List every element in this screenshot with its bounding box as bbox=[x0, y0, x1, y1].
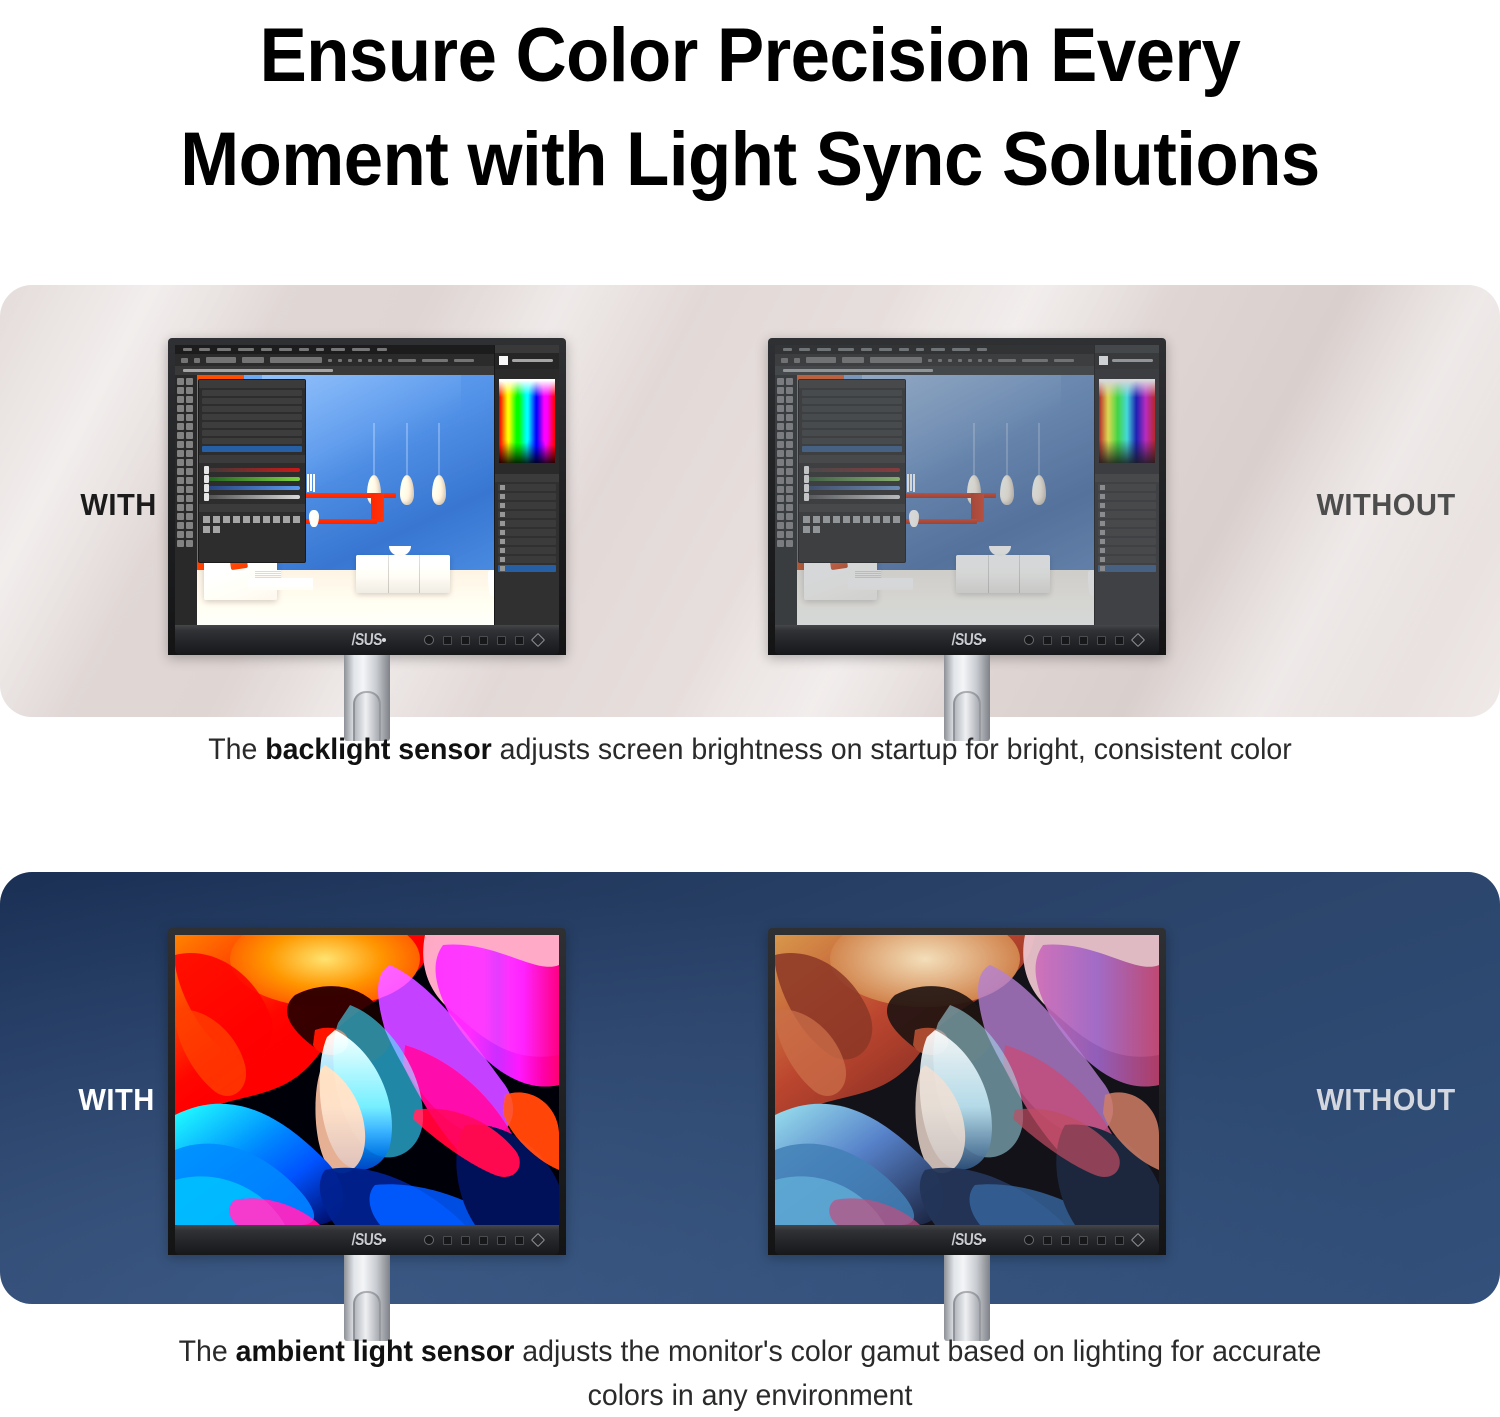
pendant-lamp bbox=[400, 475, 414, 505]
caption-prefix: The bbox=[208, 733, 265, 766]
abstract-silk-wallpaper-washed bbox=[775, 935, 1159, 1225]
caption-prefix: The bbox=[179, 1335, 236, 1368]
pendant-lamp bbox=[1000, 475, 1014, 505]
color-gradient-picker[interactable] bbox=[499, 379, 556, 463]
label-with-ambient: WITH bbox=[78, 1082, 154, 1118]
caption-backlight-sensor: The backlight sensor adjusts screen brig… bbox=[38, 728, 1463, 772]
asus-logo: /SUS bbox=[951, 1230, 982, 1250]
monitor-screen-without-backlight bbox=[775, 345, 1159, 625]
photoshop-toolbar[interactable] bbox=[175, 375, 197, 625]
osd-button-2[interactable] bbox=[461, 1236, 470, 1245]
abstract-silk-wallpaper-vivid bbox=[175, 935, 559, 1225]
label-without-backlight: WITHOUT bbox=[1316, 487, 1455, 523]
silk-artwork bbox=[175, 935, 559, 1225]
sideboard-cabinet bbox=[956, 555, 1050, 593]
monitor-without-backlight: /SUS bbox=[768, 338, 1166, 741]
power-button-icon[interactable] bbox=[1131, 1233, 1145, 1247]
caption-bold: backlight sensor bbox=[265, 733, 491, 766]
osd-button-5[interactable] bbox=[515, 636, 524, 645]
osd-button-3[interactable] bbox=[1079, 636, 1088, 645]
osd-button-4[interactable] bbox=[497, 636, 506, 645]
product-feature-page: Ensure Color Precision Every Moment with… bbox=[0, 0, 1500, 1417]
monitor-with-backlight: /SUS bbox=[168, 338, 566, 741]
power-button-icon[interactable] bbox=[1131, 633, 1145, 647]
monitor-stand bbox=[344, 1255, 390, 1341]
osd-button-3[interactable] bbox=[479, 1236, 488, 1245]
osd-button-2[interactable] bbox=[1061, 1236, 1070, 1245]
osd-button-joystick[interactable] bbox=[1024, 1235, 1034, 1245]
osd-button-1[interactable] bbox=[443, 1236, 452, 1245]
photoshop-layers-list[interactable] bbox=[1095, 474, 1159, 625]
osd-button-2[interactable] bbox=[1061, 636, 1070, 645]
osd-button-joystick[interactable] bbox=[1024, 635, 1034, 645]
asus-logo: /SUS bbox=[351, 1230, 382, 1250]
osd-button-1[interactable] bbox=[443, 636, 452, 645]
osd-button-joystick[interactable] bbox=[424, 1235, 434, 1245]
power-button-icon[interactable] bbox=[531, 633, 545, 647]
label-with-backlight: WITH bbox=[80, 487, 156, 523]
monitor-screen-with-backlight bbox=[175, 345, 559, 625]
monitor-bezel: /SUS bbox=[768, 928, 1166, 1255]
headline-line-2: Moment with Light Sync Solutions bbox=[53, 108, 1448, 212]
osd-button-1[interactable] bbox=[1043, 636, 1052, 645]
osd-button-1[interactable] bbox=[1043, 1236, 1052, 1245]
page-title: Ensure Color Precision Every Moment with… bbox=[0, 0, 1500, 212]
osd-button-row[interactable] bbox=[424, 635, 543, 645]
osd-button-3[interactable] bbox=[479, 636, 488, 645]
osd-button-5[interactable] bbox=[515, 1236, 524, 1245]
headline-line-1: Ensure Color Precision Every bbox=[53, 4, 1448, 108]
monitor-without-ambient: /SUS bbox=[768, 928, 1166, 1341]
silk-artwork bbox=[775, 935, 1159, 1225]
monitor-chin: /SUS bbox=[775, 625, 1159, 655]
power-led bbox=[382, 1238, 386, 1242]
osd-button-5[interactable] bbox=[1115, 636, 1124, 645]
caption-suffix: adjusts screen brightness on startup for… bbox=[492, 733, 1292, 766]
color-gradient-picker[interactable] bbox=[1099, 379, 1156, 463]
monitor-screen-without-ambient bbox=[775, 935, 1159, 1225]
sideboard-cabinet bbox=[356, 555, 450, 593]
monitor-stand bbox=[944, 1255, 990, 1341]
osd-button-3[interactable] bbox=[1079, 1236, 1088, 1245]
osd-button-row[interactable] bbox=[424, 1235, 543, 1245]
monitor-chin: /SUS bbox=[775, 1225, 1159, 1255]
monitor-with-ambient: /SUS bbox=[168, 928, 566, 1341]
osd-button-4[interactable] bbox=[1097, 1236, 1106, 1245]
coffee-table bbox=[248, 578, 313, 591]
photoshop-layers-panel-left[interactable] bbox=[798, 379, 906, 564]
osd-button-4[interactable] bbox=[1097, 636, 1106, 645]
power-led bbox=[982, 1238, 986, 1242]
coffee-table bbox=[848, 578, 913, 591]
power-led bbox=[982, 638, 986, 642]
monitor-chin: /SUS bbox=[175, 1225, 559, 1255]
monitor-bezel: /SUS bbox=[168, 338, 566, 655]
photoshop-layers-list[interactable] bbox=[495, 474, 559, 625]
osd-button-joystick[interactable] bbox=[424, 635, 434, 645]
photoshop-color-panel[interactable] bbox=[494, 345, 559, 625]
caption-line-2: colors in any environment bbox=[588, 1379, 913, 1412]
photoshop-ui-dim bbox=[775, 345, 1159, 625]
power-button-icon[interactable] bbox=[531, 1233, 545, 1247]
osd-button-row[interactable] bbox=[1024, 635, 1143, 645]
monitor-bezel: /SUS bbox=[768, 338, 1166, 655]
photoshop-layers-panel-left[interactable] bbox=[198, 379, 306, 564]
label-without-ambient: WITHOUT bbox=[1316, 1082, 1455, 1118]
osd-button-row[interactable] bbox=[1024, 1235, 1143, 1245]
photoshop-toolbar[interactable] bbox=[775, 375, 797, 625]
caption-suffix: adjusts the monitor's color gamut based … bbox=[514, 1335, 1321, 1368]
monitor-bezel: /SUS bbox=[168, 928, 566, 1255]
monitor-chin: /SUS bbox=[175, 625, 559, 655]
photoshop-color-panel[interactable] bbox=[1094, 345, 1159, 625]
osd-button-5[interactable] bbox=[1115, 1236, 1124, 1245]
photoshop-ui-vivid bbox=[175, 345, 559, 625]
caption-bold: ambient light sensor bbox=[236, 1335, 515, 1368]
caption-ambient-light-sensor: The ambient light sensor adjusts the mon… bbox=[38, 1330, 1463, 1417]
osd-button-4[interactable] bbox=[497, 1236, 506, 1245]
monitor-screen-with-ambient bbox=[175, 935, 559, 1225]
power-led bbox=[382, 638, 386, 642]
osd-button-2[interactable] bbox=[461, 636, 470, 645]
asus-logo: /SUS bbox=[951, 630, 982, 650]
asus-logo: /SUS bbox=[351, 630, 382, 650]
